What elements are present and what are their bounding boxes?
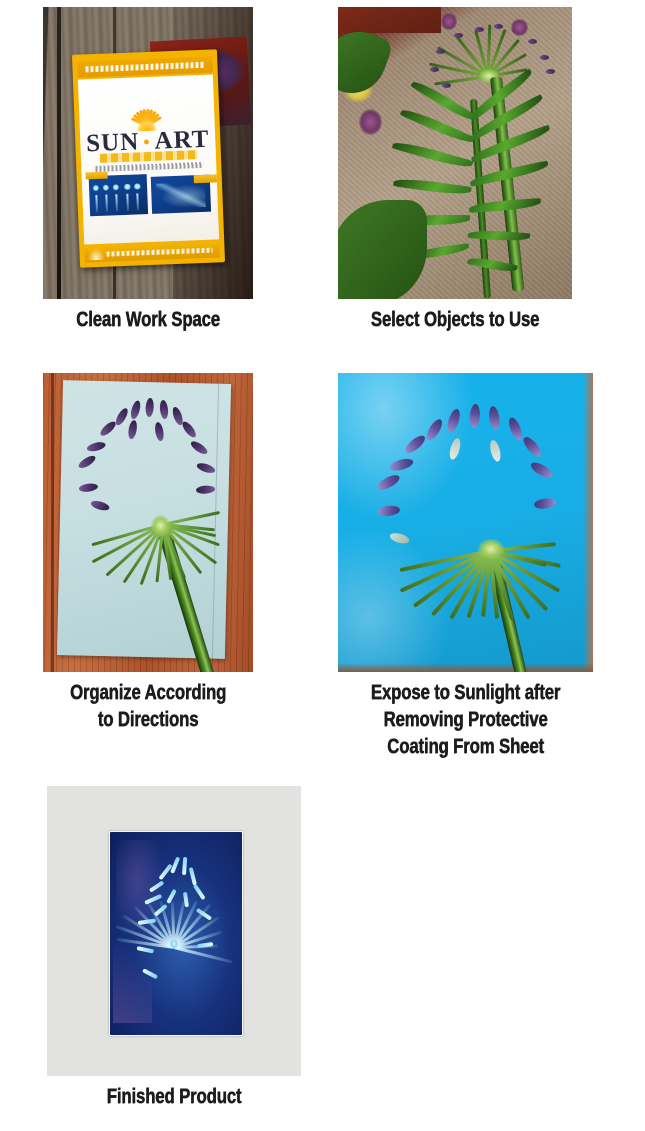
print-center-glow: [170, 937, 178, 949]
steps-grid: SUN•ART: [0, 0, 645, 1131]
deck-seam-left: [57, 7, 61, 299]
agapanthus-flower-on-sheet: [43, 373, 253, 672]
sun-art-paper-package: SUN•ART: [72, 50, 225, 269]
caption-step-2: Select Objects to Use: [361, 307, 548, 334]
step-4-expose-to-sunlight: Expose to Sunlight after Removing Protec…: [338, 373, 593, 761]
photo-finished-product: [47, 786, 301, 1076]
step-2-select-objects: Select Objects to Use: [338, 7, 572, 334]
photo-clean-work-space: SUN•ART: [43, 7, 253, 299]
step-3-organize: Organize According to Directions: [43, 373, 253, 734]
photo-organize-according-to-directions: [43, 373, 253, 672]
sun-rays-icon: [114, 92, 177, 131]
package-sample-photo-left: [88, 174, 147, 216]
package-bottom-band: [84, 243, 219, 263]
photo-expose-to-sunlight: [338, 373, 593, 672]
package-mini-sun-icon: [87, 248, 105, 261]
package-top-band-text: [85, 62, 204, 72]
step-5-finished-product: Finished Product: [47, 786, 301, 1111]
caption-step-1: Clean Work Space: [64, 307, 232, 334]
flower-hub: [478, 539, 504, 559]
agapanthus-flower-on-cyan: [338, 373, 593, 672]
brick-edge-top: [338, 7, 441, 33]
package-front-panel: SUN•ART: [78, 74, 219, 244]
broad-leaf-bottom-left: [338, 200, 427, 299]
purple-flower-top-right: [511, 19, 527, 37]
package-tab-right: [193, 175, 216, 183]
caption-step-3: Organize According to Directions: [64, 680, 232, 734]
package-tab-left: [85, 172, 107, 180]
cyanotype-print: [109, 831, 243, 1036]
photo-select-objects: [338, 7, 572, 299]
package-bottom-band-text: [106, 248, 213, 257]
flower-hub: [151, 515, 170, 536]
caption-step-4: Expose to Sunlight after Removing Protec…: [364, 680, 568, 761]
package-subtitle-paper: [99, 150, 196, 163]
package-tagline: [94, 162, 202, 172]
brand-dot-separator: •: [138, 132, 154, 153]
caption-step-5: Finished Product: [72, 1084, 275, 1111]
step-1-clean-work-space: SUN•ART: [43, 7, 253, 334]
